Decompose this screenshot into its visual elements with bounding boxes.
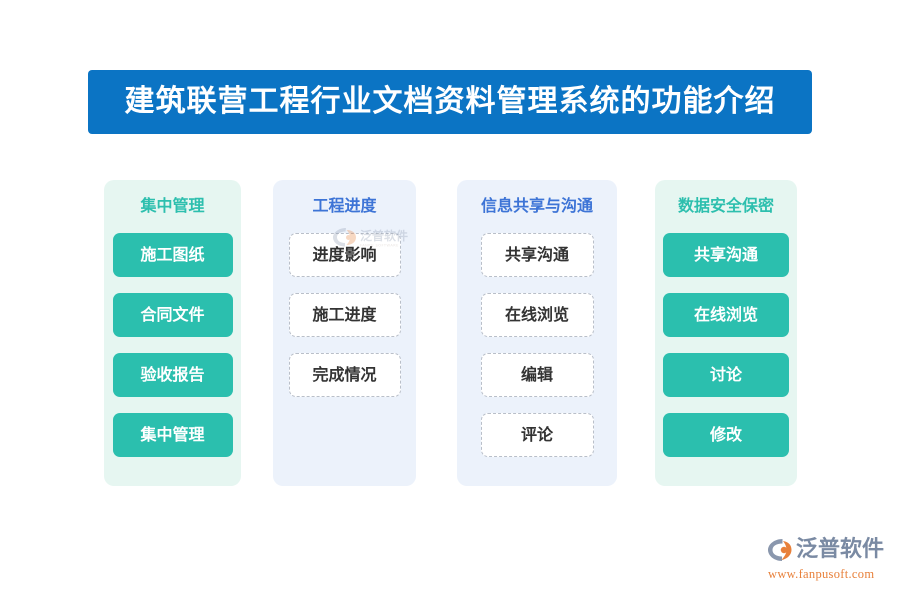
brand-logo-row: 泛普软件 [766, 536, 888, 564]
feature-button[interactable]: 编辑 [481, 353, 594, 397]
card-title: 工程进度 [273, 198, 416, 214]
feature-button[interactable]: 验收报告 [113, 353, 233, 397]
feature-button[interactable]: 合同文件 [113, 293, 233, 337]
card-button-list: 施工图纸 合同文件 验收报告 集中管理 [104, 233, 241, 457]
card-title: 数据安全保密 [655, 198, 797, 214]
feature-button[interactable]: 在线浏览 [663, 293, 789, 337]
feature-card-data-security: 数据安全保密 共享沟通 在线浏览 讨论 修改 [655, 180, 797, 486]
feature-button[interactable]: 评论 [481, 413, 594, 457]
title-banner: 建筑联营工程行业文档资料管理系统的功能介绍 [88, 70, 812, 134]
feature-button[interactable]: 讨论 [663, 353, 789, 397]
feature-button[interactable]: 集中管理 [113, 413, 233, 457]
feature-card-information-sharing: 信息共享与沟通 共享沟通 在线浏览 编辑 评论 [457, 180, 617, 486]
fanpu-c-swoosh-logo-icon [766, 537, 792, 563]
card-button-list: 进度影响 施工进度 完成情况 [273, 233, 416, 397]
poster-canvas: 建筑联营工程行业文档资料管理系统的功能介绍 集中管理 施工图纸 合同文件 验收报… [0, 0, 900, 600]
feature-button[interactable]: 施工图纸 [113, 233, 233, 277]
card-title: 集中管理 [104, 198, 241, 214]
brand-name: 泛普软件 [796, 539, 884, 561]
page-title: 建筑联营工程行业文档资料管理系统的功能介绍 [125, 87, 776, 117]
feature-card-project-progress: 工程进度 进度影响 施工进度 完成情况 泛普软件 FANPU SOFTWARE [273, 180, 416, 486]
feature-button[interactable]: 共享沟通 [663, 233, 789, 277]
card-button-list: 共享沟通 在线浏览 讨论 修改 [655, 233, 797, 457]
feature-button[interactable]: 进度影响 [289, 233, 401, 277]
feature-button[interactable]: 施工进度 [289, 293, 401, 337]
brand-logo: 泛普软件 www.fanpusoft.com [766, 536, 888, 582]
feature-button[interactable]: 在线浏览 [481, 293, 594, 337]
feature-button[interactable]: 修改 [663, 413, 789, 457]
feature-card-centralized-management: 集中管理 施工图纸 合同文件 验收报告 集中管理 [104, 180, 241, 486]
feature-columns: 集中管理 施工图纸 合同文件 验收报告 集中管理 工程进度 进度影响 施工进度 … [0, 180, 900, 486]
card-button-list: 共享沟通 在线浏览 编辑 评论 [457, 233, 617, 457]
feature-button[interactable]: 完成情况 [289, 353, 401, 397]
brand-url: www.fanpusoft.com [768, 568, 888, 581]
feature-button[interactable]: 共享沟通 [481, 233, 594, 277]
card-title: 信息共享与沟通 [457, 198, 617, 214]
